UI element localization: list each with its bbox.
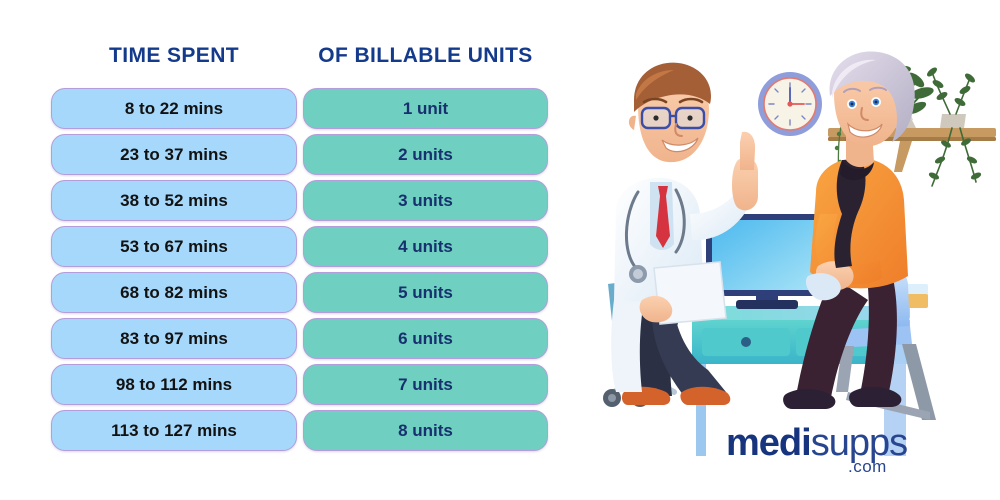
- infographic-canvas: TIME SPENT OF BILLABLE UNITS 8 to 22 min…: [0, 0, 1000, 500]
- table-row: 38 to 52 mins3 units: [0, 180, 600, 226]
- column-header-billable-units: OF BILLABLE UNITS: [303, 44, 548, 68]
- billable-units-pill: 6 units: [303, 318, 548, 359]
- wall-clock-icon: [758, 72, 822, 136]
- time-spent-pill: 83 to 97 mins: [51, 318, 297, 359]
- billable-units-pill: 8 units: [303, 410, 548, 451]
- time-spent-pill: 113 to 127 mins: [51, 410, 297, 451]
- table-row: 8 to 22 mins1 unit: [0, 88, 600, 134]
- billable-units-pill: 3 units: [303, 180, 548, 221]
- billable-units-pill: 2 units: [303, 134, 548, 175]
- time-spent-pill: 38 to 52 mins: [51, 180, 297, 221]
- medisupps-logo[interactable]: medisupps .com: [726, 424, 976, 480]
- logo-medi: medi: [726, 422, 811, 464]
- time-spent-pill: 68 to 82 mins: [51, 272, 297, 313]
- time-spent-pill: 8 to 22 mins: [51, 88, 297, 129]
- billable-units-pill: 4 units: [303, 226, 548, 267]
- potted-plant-right: [925, 66, 982, 186]
- time-spent-pill: 98 to 112 mins: [51, 364, 297, 405]
- billable-units-pill: 5 units: [303, 272, 548, 313]
- table-row: 98 to 112 mins7 units: [0, 364, 600, 410]
- billable-units-table: TIME SPENT OF BILLABLE UNITS 8 to 22 min…: [0, 0, 600, 500]
- logo-tld: .com: [848, 458, 887, 475]
- table-row: 83 to 97 mins6 units: [0, 318, 600, 364]
- billable-units-pill: 1 unit: [303, 88, 548, 129]
- table-row: 68 to 82 mins5 units: [0, 272, 600, 318]
- time-spent-pill: 53 to 67 mins: [51, 226, 297, 267]
- table-row: 53 to 67 mins4 units: [0, 226, 600, 272]
- table-row: 113 to 127 mins8 units: [0, 410, 600, 456]
- billable-units-pill: 7 units: [303, 364, 548, 405]
- table-row: 23 to 37 mins2 units: [0, 134, 600, 180]
- time-spent-pill: 23 to 37 mins: [51, 134, 297, 175]
- table-body: 8 to 22 mins1 unit23 to 37 mins2 units38…: [0, 88, 600, 456]
- column-header-time-spent: TIME SPENT: [51, 44, 297, 68]
- table-header-row: TIME SPENT OF BILLABLE UNITS: [0, 44, 600, 74]
